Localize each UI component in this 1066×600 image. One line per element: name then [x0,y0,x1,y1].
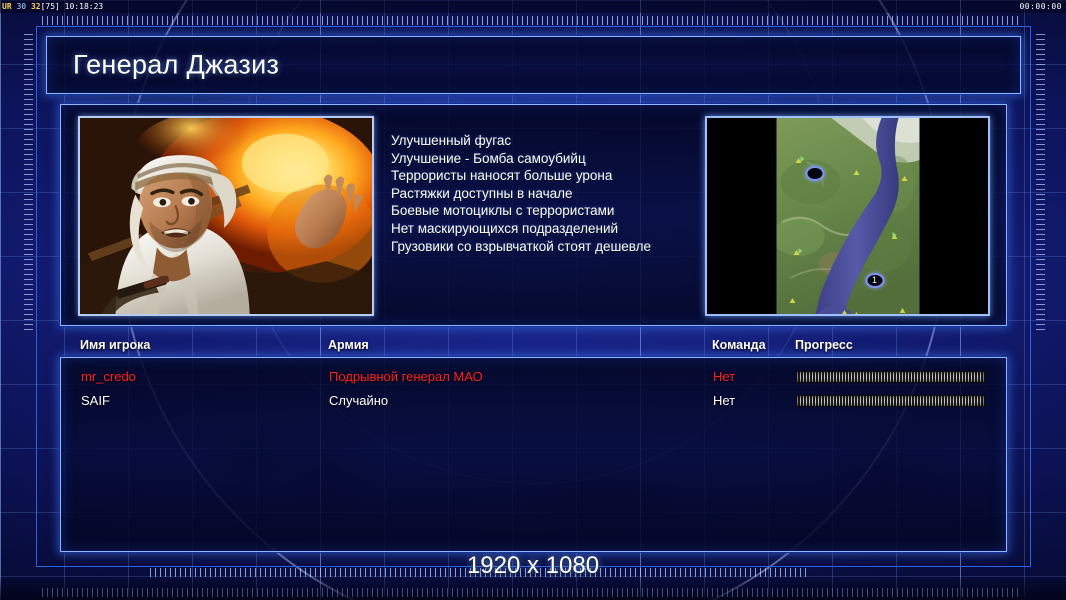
stats-ms: 32 [31,2,41,11]
player-progress [796,371,985,383]
map-start-position-marker-1[interactable]: 1 [865,273,884,288]
player-name: mr_credo [81,365,136,389]
map-preview-image: 1 [776,118,919,316]
general-portrait [78,116,374,316]
stats-bracket: [75] [41,2,60,11]
general-info-panel: Улучшенный фугас Улучшение - Бомба самоу… [60,104,1007,326]
title-panel: Генерал Джазиз [46,36,1021,94]
frame-line-top [36,26,1031,27]
general-bonus-list: Улучшенный фугас Улучшение - Бомба самоу… [391,132,741,255]
portrait-artwork [80,118,372,314]
frame-line-left [36,26,37,566]
player-army: Случайно [329,389,388,413]
game-timer: 00:00:00 [1019,0,1062,13]
map-preview[interactable]: 1 [705,116,990,316]
page-title: Генерал Джазиз [73,50,279,81]
stats-clock: 10:18:23 [65,2,104,11]
player-progress [796,395,985,407]
ruler-left [24,34,33,334]
bonus-item: Террористы наносят больше урона [391,167,741,185]
progress-bar [796,371,985,383]
stats-fps: 30 [16,2,26,11]
progress-bar [796,395,985,407]
bonus-item: Нет маскирующихся подразделений [391,220,741,238]
bonus-item: Улучшение - Бомба самоубийц [391,150,741,168]
column-header-army: Армия [328,338,369,352]
fps-stats: UR 30 32[75] 10:18:23 [2,0,103,13]
stats-prefix: UR [2,2,12,11]
bonus-item: Грузовики со взрывчаткой стоят дешевле [391,238,741,256]
column-header-progress: Прогресс [795,338,853,352]
player-table-header: Имя игрока Армия Команда Прогресс [60,338,1007,358]
map-artwork [776,118,919,316]
bonus-item: Боевые мотоциклы с террористами [391,202,741,220]
bonus-item: Растяжки доступны в начале [391,185,741,203]
ruler-bottom-secondary [42,588,1022,597]
player-army: Подрывной генерал МАО [329,365,483,389]
table-row[interactable]: mr_credo Подрывной генерал МАО Нет [61,365,1006,389]
player-list-panel: mr_credo Подрывной генерал МАО Нет SAIF … [60,357,1007,552]
ruler-top [42,16,1022,25]
bonus-item: Улучшенный фугас [391,132,741,150]
ruler-right [1036,34,1045,334]
map-start-position-marker[interactable] [805,166,824,181]
column-header-team: Команда [712,338,766,352]
debug-status-bar: UR 30 32[75] 10:18:23 00:00:00 [0,0,1066,13]
game-lobby-screen: UR 30 32[75] 10:18:23 00:00:00 Генерал Д… [0,0,1066,600]
frame-line-right [1030,26,1031,566]
resolution-label: 1920 x 1080 [0,552,1066,580]
column-header-player: Имя игрока [80,338,150,352]
player-name: SAIF [81,389,110,413]
player-team: Нет [713,389,735,413]
table-row[interactable]: SAIF Случайно Нет [61,389,1006,413]
player-team: Нет [713,365,735,389]
